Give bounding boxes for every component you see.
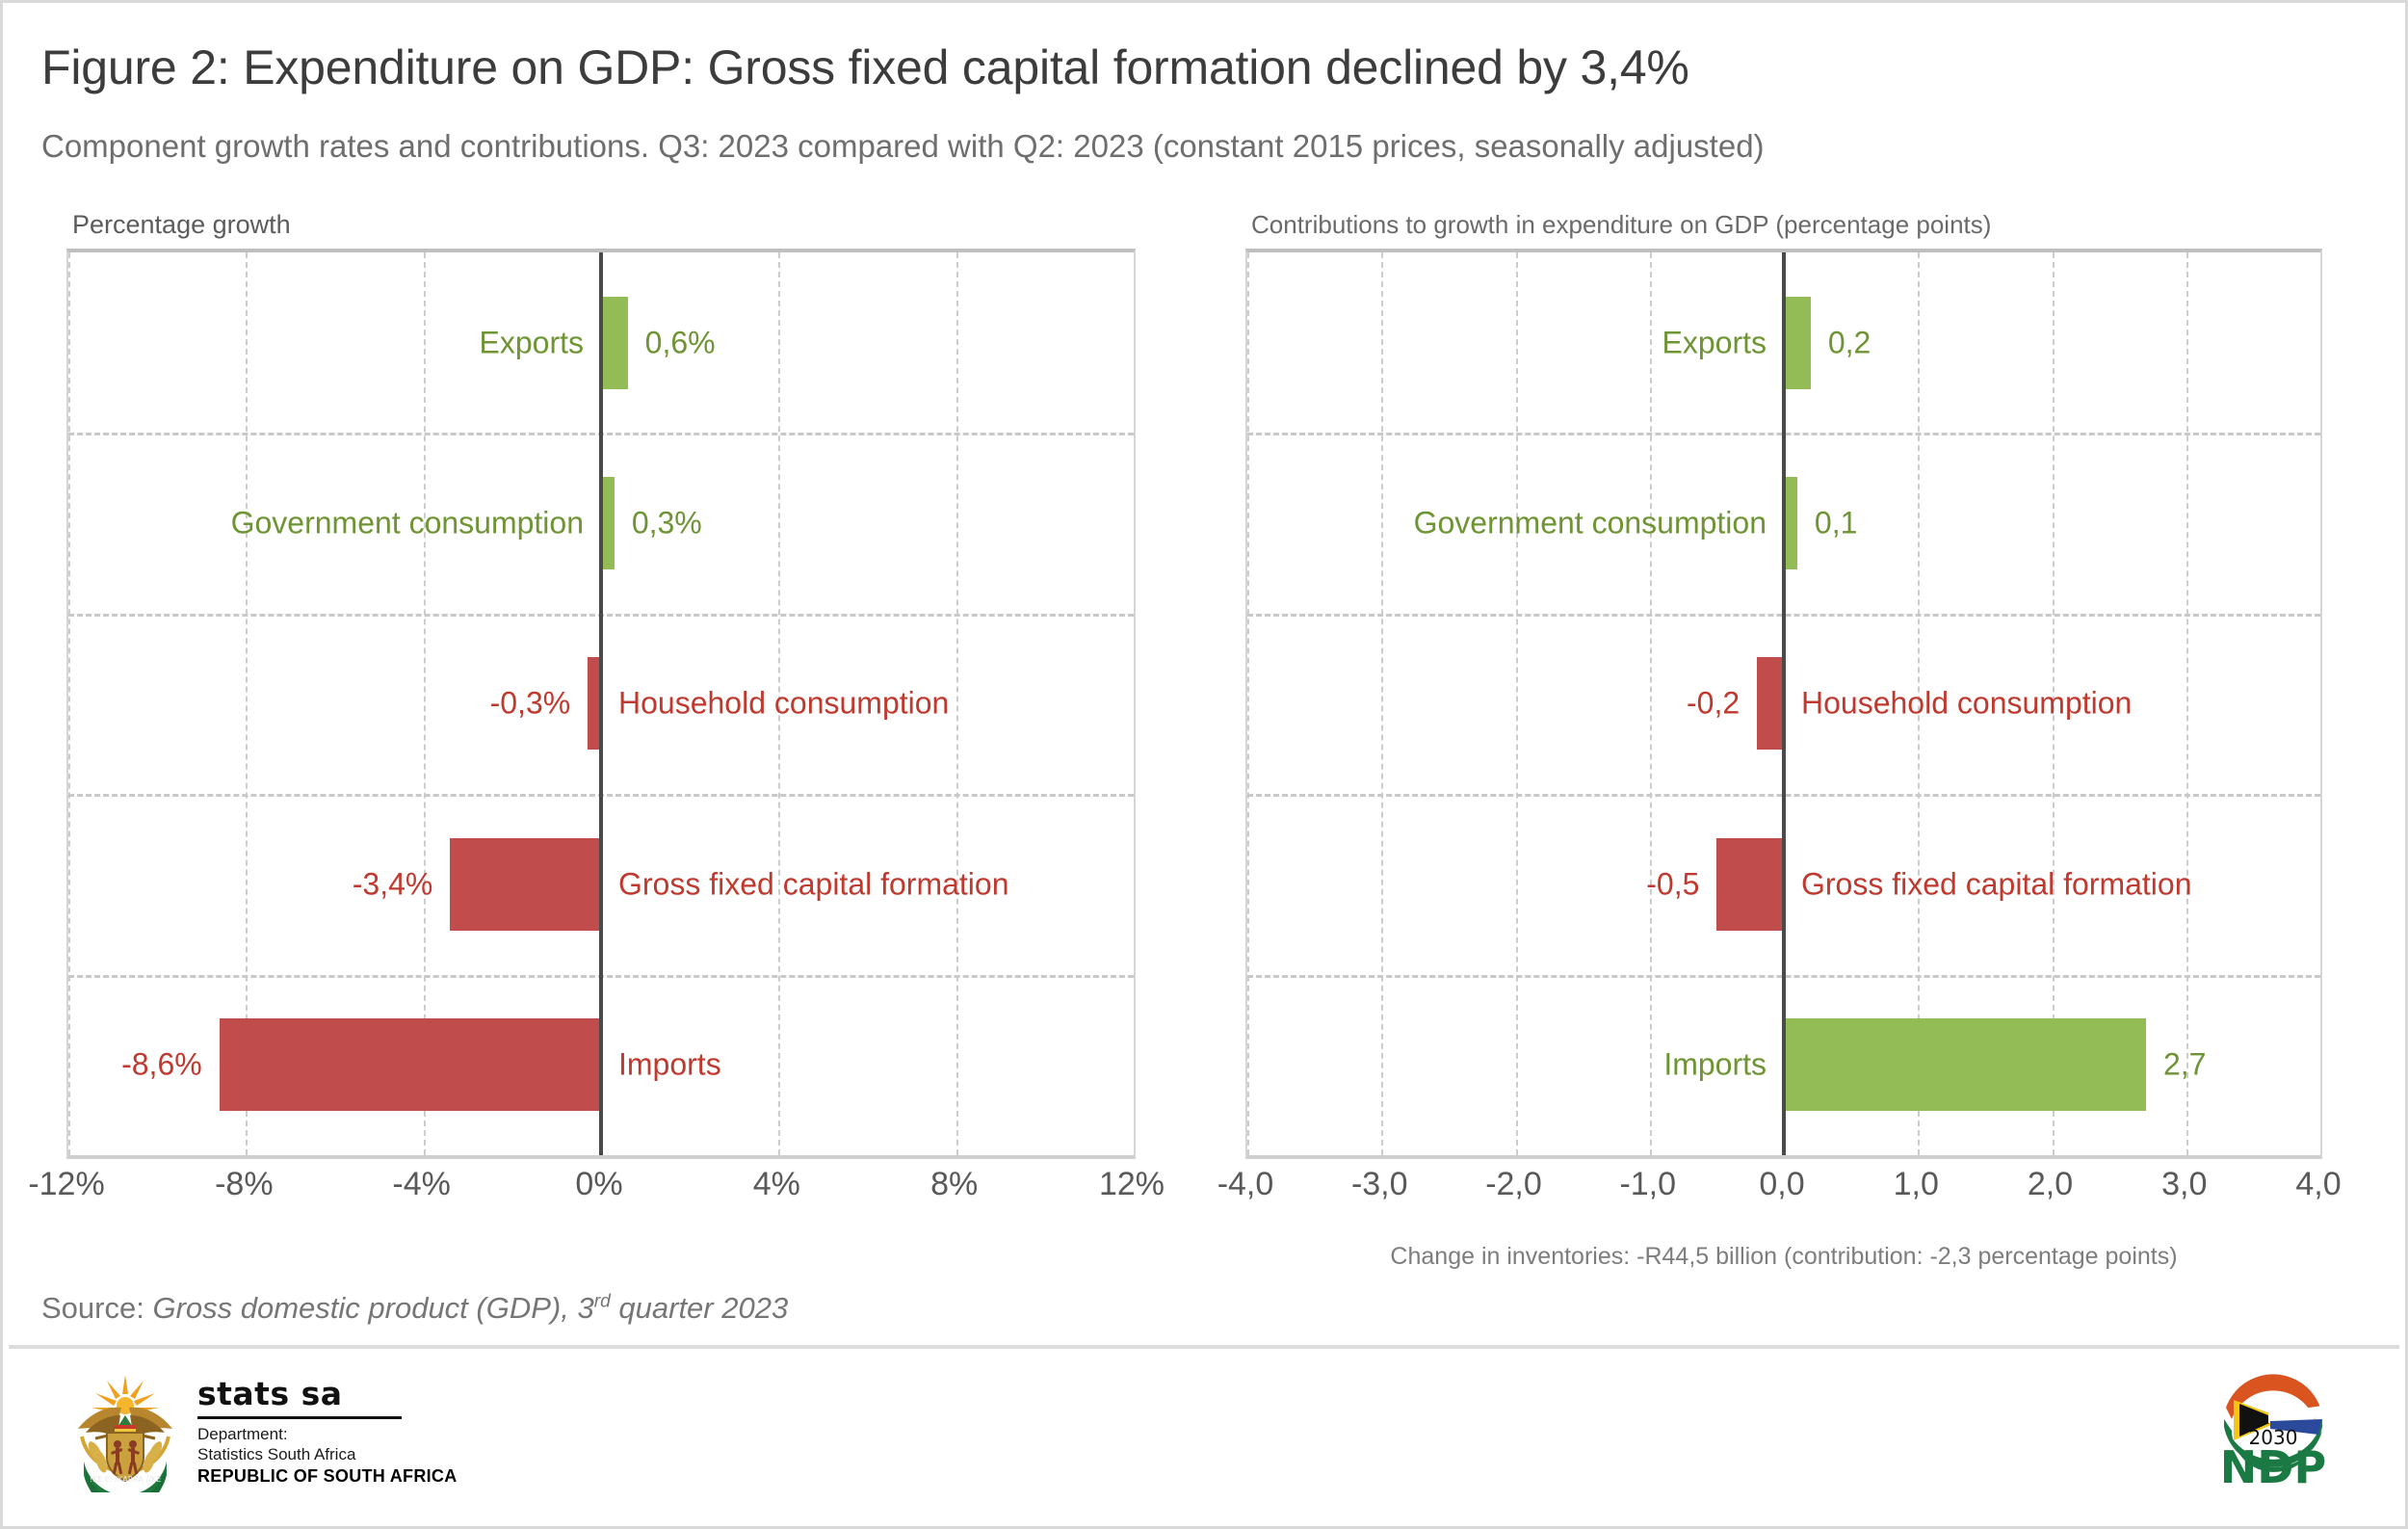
x-tick-label: 2,0 <box>2028 1166 2073 1203</box>
bar-category-label: Household consumption <box>618 686 949 722</box>
source-tail: quarter 2023 <box>611 1291 788 1325</box>
x-tick-label: -3,0 <box>1351 1166 1408 1203</box>
x-tick-label: 0% <box>575 1166 622 1203</box>
statssa-republic-label: REPUBLIC OF SOUTH AFRICA <box>197 1465 458 1488</box>
bar[interactable] <box>450 838 601 931</box>
bar-value-label: -0,3% <box>490 686 571 722</box>
south-africa-coat-of-arms-icon: !KE E: /XARRA //KE <box>68 1369 182 1492</box>
bar[interactable] <box>1716 838 1784 931</box>
x-tick-label: -1,0 <box>1619 1166 1676 1203</box>
bar-category-label: Imports <box>1663 1047 1767 1083</box>
bar[interactable] <box>1784 477 1797 569</box>
chart-panel-contributions: Contributions to growth in expenditure o… <box>1245 249 2322 1159</box>
statssa-name: stats sa <box>197 1378 458 1411</box>
x-axis-right: -4,0-3,0-2,0-1,00,01,02,03,04,0 <box>1245 1166 2322 1224</box>
bar-category-label: Gross fixed capital formation <box>1801 866 2192 902</box>
bar-value-label: 0,6% <box>645 325 716 360</box>
bar-category-label: Government consumption <box>231 506 584 541</box>
x-tick-label: -2,0 <box>1485 1166 1542 1203</box>
bar-value-label: 0,2 <box>1828 325 1871 360</box>
bar-value-label: -0,2 <box>1687 686 1740 722</box>
x-tick-label: 12% <box>1099 1166 1165 1203</box>
bar[interactable] <box>1784 297 1811 389</box>
bar[interactable] <box>220 1018 601 1111</box>
footer-divider <box>9 1345 2399 1349</box>
plot-area-left: Exports0,6%Government consumption0,3%Hou… <box>66 249 1136 1159</box>
ndp-text-label: NDP <box>2220 1441 2326 1493</box>
x-axis-left: -12%-8%-4%0%4%8%12% <box>66 1166 1136 1224</box>
statssa-wordmark: stats sa Department: Statistics South Af… <box>197 1374 458 1488</box>
bar[interactable] <box>601 477 615 569</box>
chart-annotation-right: Change in inventories: -R44,5 billion (c… <box>1245 1243 2322 1271</box>
bar-category-label: Gross fixed capital formation <box>618 866 1009 902</box>
bar-value-label: -3,4% <box>353 866 433 902</box>
source-note: Source: Gross domestic product (GDP), 3r… <box>41 1291 788 1326</box>
gridline-vertical <box>2320 252 2322 1155</box>
page-title: Figure 2: Expenditure on GDP: Gross fixe… <box>41 40 1689 95</box>
chart-title-right: Contributions to growth in expenditure o… <box>1251 210 1991 240</box>
x-tick-label: 8% <box>930 1166 978 1203</box>
x-tick-label: 3,0 <box>2161 1166 2207 1203</box>
ndp-2030-logo-icon: 2030 NDP <box>2201 1359 2345 1494</box>
zero-axis-line <box>1782 252 1786 1155</box>
source-prefix: Source: <box>41 1291 152 1325</box>
source-ordinal: rd <box>594 1292 611 1312</box>
svg-text:!KE E: /XARRA //KE: !KE E: /XARRA //KE <box>90 1475 162 1484</box>
statssa-department-label: Department: <box>197 1424 458 1445</box>
bar-category-label: Imports <box>618 1047 721 1083</box>
page-subtitle: Component growth rates and contributions… <box>41 128 1765 165</box>
chart-panel-percentage-growth: Percentage growth Exports0,6%Government … <box>66 249 1136 1159</box>
bar[interactable] <box>1784 1018 2146 1111</box>
bar-value-label: 0,3% <box>632 506 702 541</box>
x-tick-label: 1,0 <box>1894 1166 1939 1203</box>
x-tick-label: 0,0 <box>1759 1166 1804 1203</box>
bar-category-label: Government consumption <box>1414 506 1767 541</box>
gridline-vertical <box>1134 252 1136 1155</box>
bar-value-label: -8,6% <box>121 1047 202 1083</box>
statssa-department-name: Statistics South Africa <box>197 1444 458 1465</box>
bar-category-label: Exports <box>480 325 584 360</box>
x-tick-label: 4% <box>753 1166 800 1203</box>
bar[interactable] <box>1757 657 1784 750</box>
bar-value-label: 0,1 <box>1815 506 1857 541</box>
bar[interactable] <box>601 297 628 389</box>
bar-value-label: 2,7 <box>2163 1047 2206 1083</box>
bar-value-label: -0,5 <box>1646 866 1699 902</box>
source-title: Gross domestic product (GDP), 3 <box>152 1291 593 1325</box>
x-tick-label: -12% <box>28 1166 104 1203</box>
x-tick-label: -8% <box>215 1166 273 1203</box>
plot-area-right: Exports0,2Government consumption0,1House… <box>1245 249 2322 1159</box>
x-tick-label: 4,0 <box>2295 1166 2341 1203</box>
statssa-logo: !KE E: /XARRA //KE stats sa Department: … <box>68 1369 458 1492</box>
bar-category-label: Household consumption <box>1801 686 2132 722</box>
statssa-rule <box>197 1416 402 1419</box>
chart-title-left: Percentage growth <box>72 210 291 240</box>
bar-category-label: Exports <box>1662 325 1767 360</box>
zero-axis-line <box>599 252 603 1155</box>
x-tick-label: -4% <box>392 1166 450 1203</box>
figure-slide: Figure 2: Expenditure on GDP: Gross fixe… <box>0 0 2408 1529</box>
x-tick-label: -4,0 <box>1217 1166 1274 1203</box>
